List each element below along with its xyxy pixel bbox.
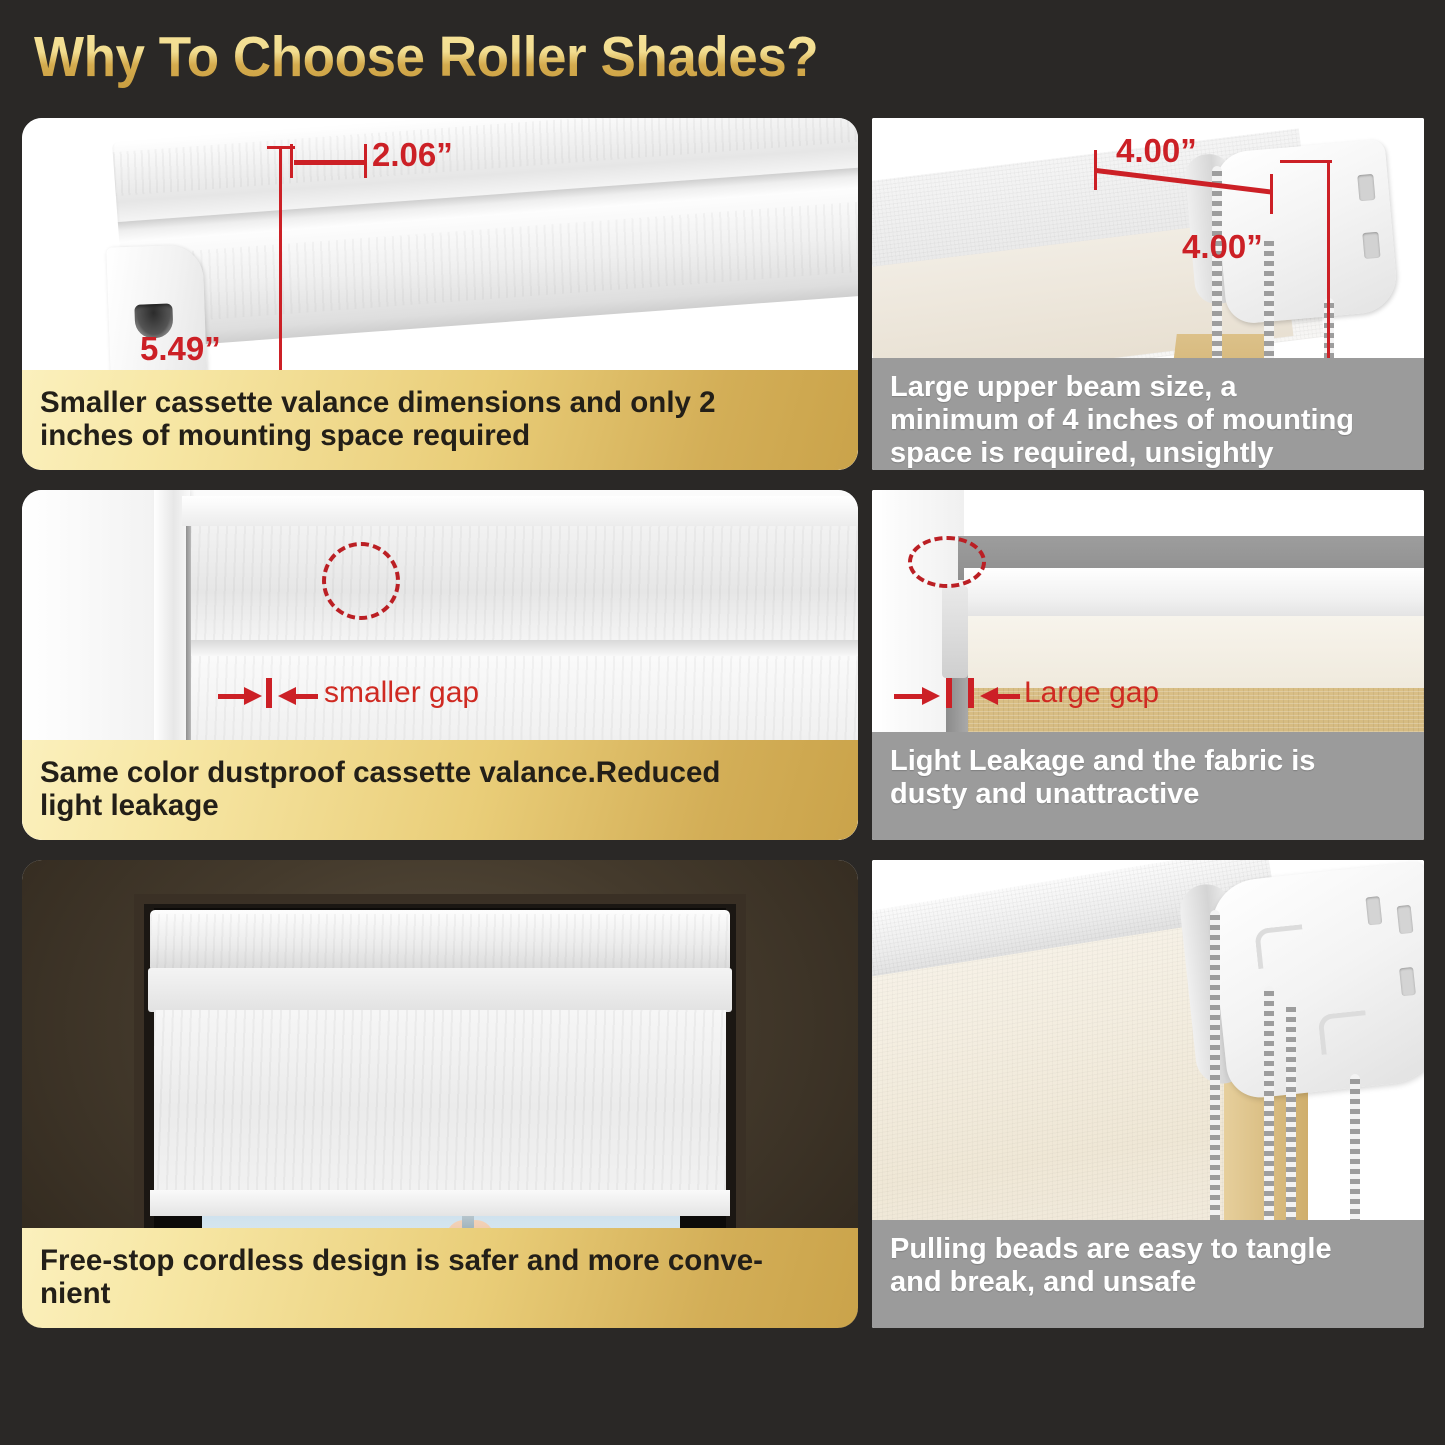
caption-line-2: nient [40, 1277, 840, 1310]
gap-tick [266, 678, 272, 708]
caption-line-1: Light Leakage and the fabric is [890, 745, 1406, 778]
dim-arrow-width [294, 160, 364, 165]
gap-arrow-left-tail [894, 694, 924, 699]
panel-grid: 2.06” 5.49” Smaller cassette valance dim… [0, 0, 1445, 1445]
caption-line-2: and break, and unsafe [890, 1266, 1406, 1299]
dim-cap-top [267, 146, 295, 149]
dimension-label-2-06: 2.06” [372, 136, 453, 174]
window-head-trim [182, 496, 858, 526]
shade-fabric [154, 1010, 726, 1202]
cassette-valance-face [190, 526, 858, 646]
caption-line-2: minimum of 4 inches of mounting [890, 404, 1406, 437]
panel-cordless-design: Free-stop cordless design is safer and m… [22, 860, 858, 1328]
caption-pulling-beads: Pulling beads are easy to tangle and bre… [872, 1220, 1424, 1328]
gap-arrow-left-head [922, 687, 940, 705]
caption-line-1: Same color dustproof cassette valance.Re… [40, 756, 840, 789]
caption-line-2: dusty and unattractive [890, 778, 1406, 811]
caption-dustproof-cassette: Same color dustproof cassette valance.Re… [22, 740, 858, 840]
caption-cordless-design: Free-stop cordless design is safer and m… [22, 1228, 858, 1328]
gap-arrow-left-tail [218, 694, 246, 699]
dimension-label-5-49: 5.49” [140, 330, 221, 368]
panel-light-leakage: Large gap Light Leakage and the fabric i… [872, 490, 1424, 840]
caption-line-3: space is required, unsightly [890, 437, 1406, 470]
caption-light-leakage: Light Leakage and the fabric is dusty an… [872, 732, 1424, 840]
caption-large-upper-beam: Large upper beam size, a minimum of 4 in… [872, 358, 1424, 470]
caption-line-1: Free-stop cordless design is safer and m… [40, 1244, 840, 1277]
gap-arrow-right-head [980, 687, 998, 705]
dim-tick-left [290, 144, 293, 178]
caption-line-1: Large upper beam size, a [890, 371, 1406, 404]
bracket-clip [942, 586, 968, 678]
dim-line-height [1327, 160, 1330, 370]
caption-line-2: inches of mounting space required [40, 419, 840, 452]
gap-arrow-right-tail [296, 694, 318, 699]
caption-line-1: Pulling beads are easy to tangle [890, 1233, 1406, 1266]
gap-arrow-left-head [244, 687, 262, 705]
dim-cap-top-h [1280, 160, 1332, 163]
gap-arrow-right-tail [998, 694, 1020, 699]
cassette-valance [150, 910, 730, 972]
highlight-circle-icon [322, 542, 400, 620]
panel-pulling-beads: Pulling beads are easy to tangle and bre… [872, 860, 1424, 1328]
gap-label-smaller: smaller gap [324, 676, 479, 710]
mounting-bracket [1207, 861, 1424, 1101]
caption-cassette-valance: Smaller cassette valance dimensions and … [22, 370, 858, 470]
panel-cassette-valance: 2.06” 5.49” Smaller cassette valance dim… [22, 118, 858, 470]
dim-tick-right [364, 144, 367, 178]
infographic-page: Why To Choose Roller Shades? [0, 0, 1445, 1445]
highlight-circle-icon [908, 536, 986, 588]
gap-tick-right [968, 678, 974, 708]
gap-tick-left [946, 678, 952, 708]
dimension-label-4-00-width: 4.00” [1116, 132, 1197, 170]
dimension-label-4-00-height: 4.00” [1182, 228, 1263, 266]
shade-hem-bar [150, 1190, 730, 1216]
gap-arrow-right-head [278, 687, 296, 705]
cassette-lower-lip [148, 968, 732, 1012]
caption-line-1: Smaller cassette valance dimensions and … [40, 386, 840, 419]
panel-large-upper-beam: 4.00” 4.00” Large upper beam size, a min… [872, 118, 1424, 470]
panel-dustproof-cassette: smaller gap Same color dustproof cassett… [22, 490, 858, 840]
caption-line-2: light leakage [40, 789, 840, 822]
gap-label-large: Large gap [1024, 676, 1159, 710]
